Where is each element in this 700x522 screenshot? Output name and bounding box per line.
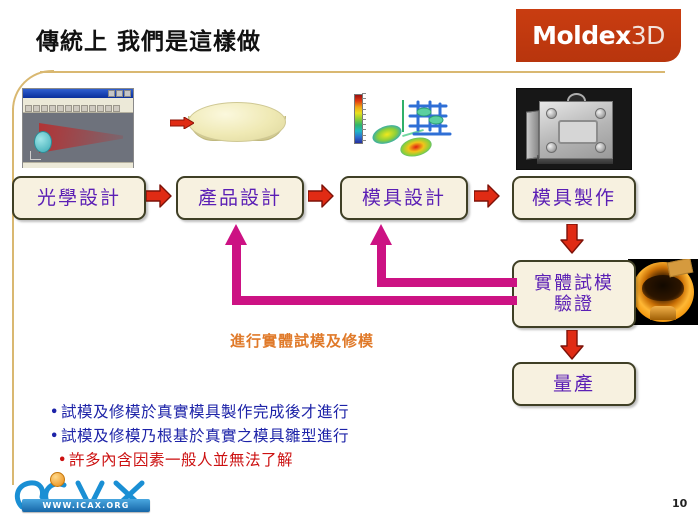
page-number: 10: [672, 497, 687, 510]
feedback-path-1-vertical: [232, 243, 241, 299]
slide-canvas: 傳統上 我們是這樣做 Moldex3D: [0, 0, 700, 522]
mold-tooling-photo: [516, 88, 632, 170]
page-title: 傳統上 我們是這樣做: [36, 22, 261, 56]
feedback-path-2-horizontal: [377, 278, 517, 287]
feedback-caption: 進行實體試模及修模: [230, 330, 374, 351]
feedback-arrowhead-2: [369, 224, 393, 246]
logo-light-part: 3D: [631, 21, 665, 50]
mold-cavity: [558, 120, 598, 144]
cooling-channels: [406, 96, 454, 144]
axis-triad-icon: [30, 151, 41, 160]
flow-arrow-5: [560, 330, 584, 360]
moldex3d-logo-text: Moldex3D: [532, 21, 665, 50]
optical-simulation-window: [22, 88, 134, 168]
bullet-marker: •: [48, 424, 61, 448]
flow-box-mold-design[interactable]: 模具設計: [340, 176, 468, 220]
optical-test-photo: [628, 259, 698, 325]
flow-box-physical-trial-line2: 驗證: [534, 294, 614, 315]
window-title-bar: [23, 89, 133, 98]
bullet-item-1: • 試模及修模於真實模具製作完成後才進行: [48, 400, 478, 424]
flow-arrow-4: [560, 224, 584, 254]
mold-top-plate: [539, 101, 613, 159]
gate-pointer-arrow: [170, 117, 194, 129]
flow-box-physical-trial-line1: 實體試模: [534, 273, 614, 294]
moldex3d-logo: Moldex3D: [516, 9, 681, 62]
logo-bold-part: Moldex: [532, 21, 631, 50]
flow-arrow-2: [308, 184, 334, 208]
window-controls: [108, 90, 131, 97]
flow-arrow-3: [474, 184, 500, 208]
dark-core: [642, 275, 684, 301]
feedback-path-1-horizontal: [232, 296, 517, 305]
flow-arrow-1: [146, 184, 172, 208]
feedback-path-2-vertical: [377, 243, 386, 281]
window-status-bar: [23, 162, 133, 168]
accent-line-vertical: [12, 108, 14, 485]
bullet-text: 試模及修模乃根基於真實之模具雛型進行: [61, 424, 349, 448]
fixture-base: [650, 306, 676, 320]
icax-url-text: WWW.ICAX.ORG: [42, 501, 129, 510]
cae-analysis-result: [340, 88, 458, 168]
label-tag: [667, 259, 694, 277]
lens-product-render: [170, 96, 290, 158]
runner-stem: [402, 100, 404, 132]
fill-contour-a: [370, 122, 404, 147]
icax-logo[interactable]: WWW.ICAX.ORG: [8, 471, 158, 519]
flow-box-product-design[interactable]: 產品設計: [176, 176, 304, 220]
feedback-arrowhead-1: [224, 224, 248, 246]
window-toolbar: [23, 104, 133, 113]
icax-url-banner[interactable]: WWW.ICAX.ORG: [22, 499, 150, 512]
bullet-marker: •: [48, 400, 61, 424]
bullet-list: • 試模及修模於真實模具製作完成後才進行 • 試模及修模乃根基於真實之模具雛型進…: [48, 400, 478, 472]
guide-rail: [526, 110, 539, 159]
bullet-text: 試模及修模於真實模具製作完成後才進行: [61, 400, 349, 424]
flow-box-mold-manufacture[interactable]: 模具製作: [512, 176, 636, 220]
bullet-item-2: • 試模及修模乃根基於真實之模具雛型進行: [48, 424, 478, 448]
lens-model: [34, 131, 52, 153]
viewport-3d: [23, 113, 133, 162]
flow-box-optical-design[interactable]: 光學設計: [12, 176, 146, 220]
flow-box-physical-trial[interactable]: 實體試模 驗證: [512, 260, 636, 328]
flow-box-mass-production[interactable]: 量產: [512, 362, 636, 406]
accent-line-horizontal: [40, 71, 665, 73]
icax-accent-dot: [50, 472, 65, 487]
lens-top-face: [188, 102, 286, 142]
